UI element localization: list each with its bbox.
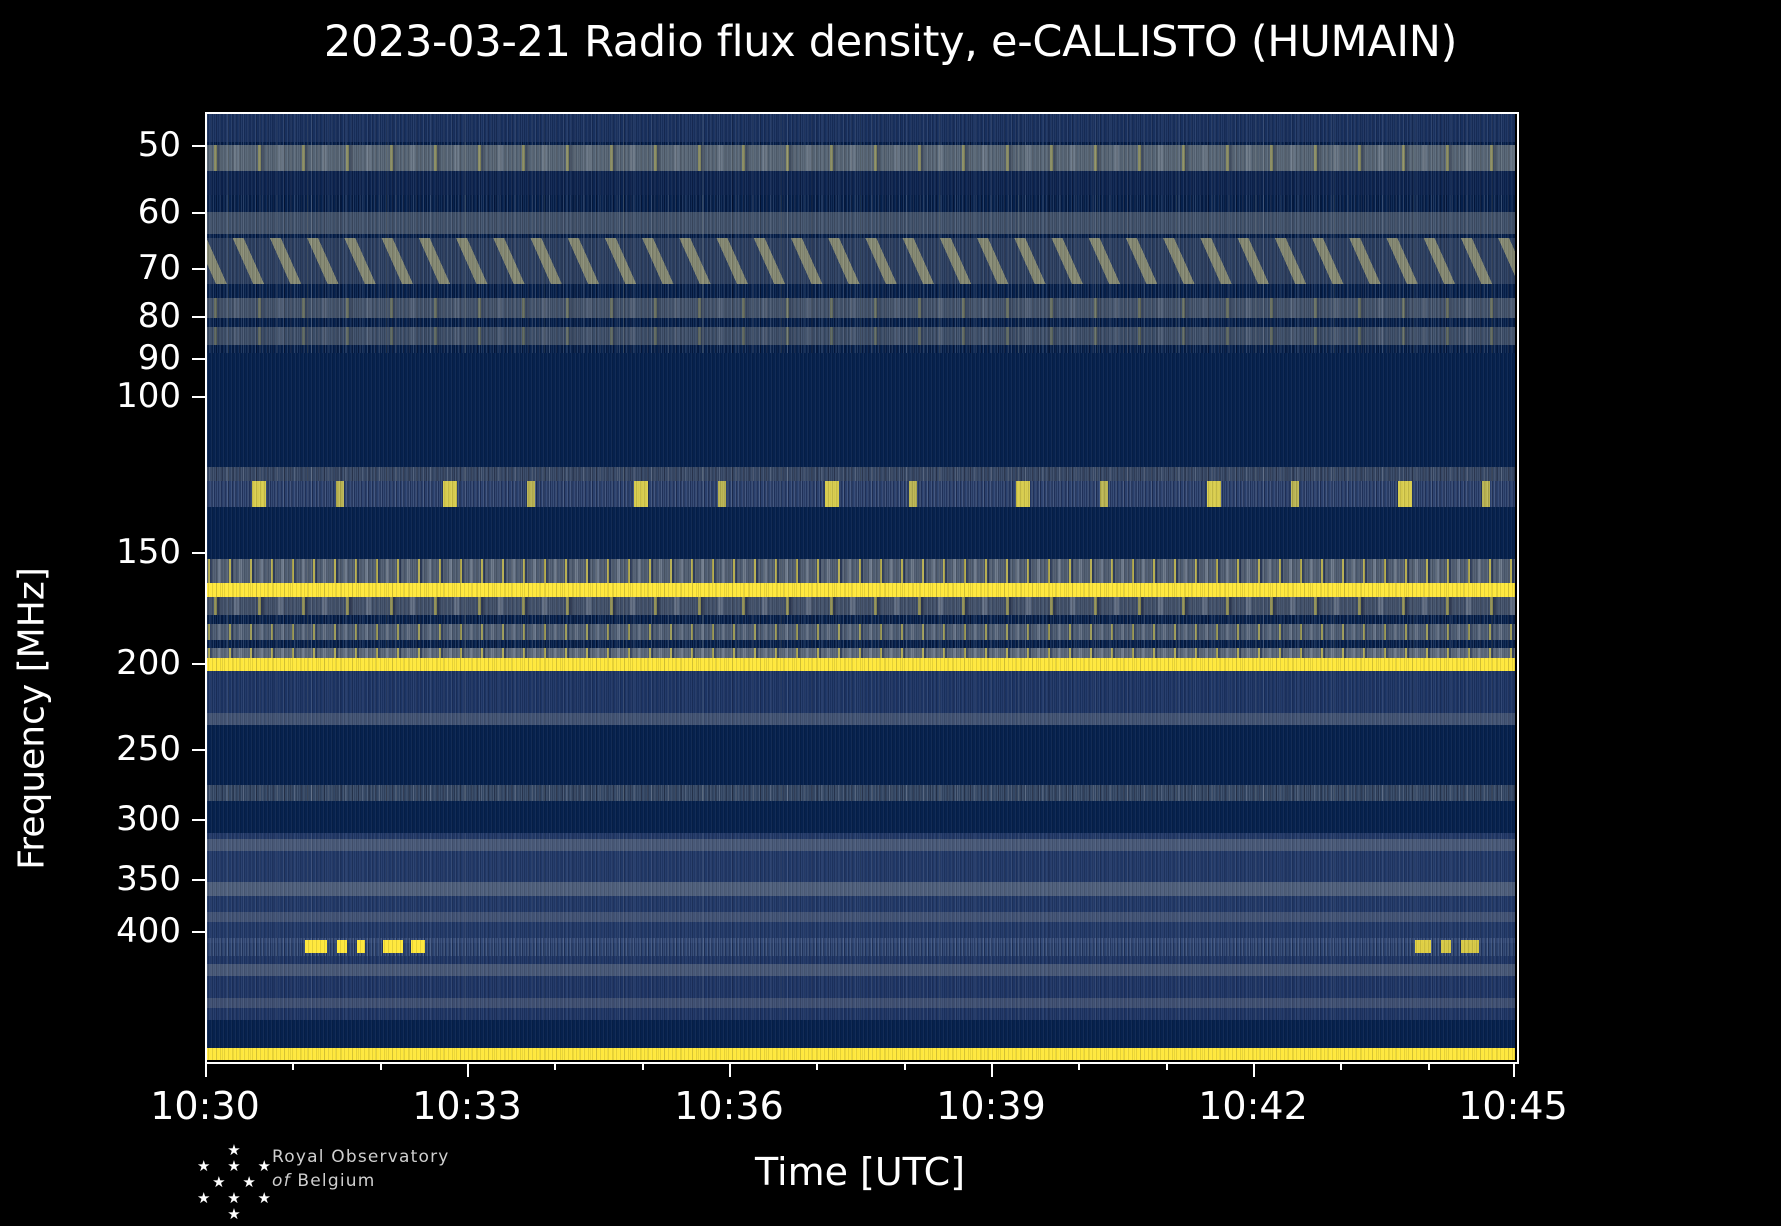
x-tick-label-1036: 10:36 — [674, 1084, 784, 1128]
y-tick-label-400: 400 — [116, 911, 181, 951]
y-tick-label-300: 300 — [116, 799, 181, 839]
y-tick-label-200: 200 — [116, 643, 181, 683]
x-tick-label-1045: 10:45 — [1458, 1084, 1568, 1128]
y-tick-label-90: 90 — [138, 338, 181, 378]
logo-text: Royal Observatory of Belgium — [272, 1145, 572, 1193]
y-axis-label: Frequency [MHz] — [12, 509, 53, 929]
logo-belgium-word: Belgium — [297, 1171, 375, 1191]
y-tick-label-80: 80 — [138, 296, 181, 336]
x-tick-label-1033: 10:33 — [412, 1084, 522, 1128]
logo-line-2: of Belgium — [272, 1169, 572, 1193]
y-tick-label-100: 100 — [116, 376, 181, 416]
y-tick-label-350: 350 — [116, 859, 181, 899]
page-title: 2023-03-21 Radio flux density, e-CALLIST… — [0, 17, 1781, 67]
star-row-bottom: ★ ★ ★ ★ — [182, 1190, 292, 1222]
x-tick-label-1042: 10:42 — [1198, 1084, 1308, 1128]
x-tick-label-1030: 10:30 — [150, 1084, 260, 1128]
y-tick-label-50: 50 — [138, 125, 181, 165]
y-tick-label-150: 150 — [116, 532, 181, 572]
y-tick-label-70: 70 — [138, 248, 181, 288]
y-axis: Frequency [MHz] 50 60 70 80 90 100 150 2… — [0, 112, 205, 1060]
y-tick-label-250: 250 — [116, 729, 181, 769]
y-tick-label-60: 60 — [138, 192, 181, 232]
spectrogram-figure: 2023-03-21 Radio flux density, e-CALLIST… — [0, 0, 1781, 1226]
royal-observatory-logo: ★ ★ ★ ★ ★ ★ ★ ★ ★ ★ Royal Observatory of… — [182, 1140, 582, 1210]
logo-of-word: of — [272, 1171, 291, 1191]
time-stripe-texture — [205, 112, 1515, 1060]
x-tick-label-1039: 10:39 — [936, 1084, 1046, 1128]
logo-line-1: Royal Observatory — [272, 1145, 572, 1169]
spectrogram-plot-area — [205, 112, 1515, 1060]
